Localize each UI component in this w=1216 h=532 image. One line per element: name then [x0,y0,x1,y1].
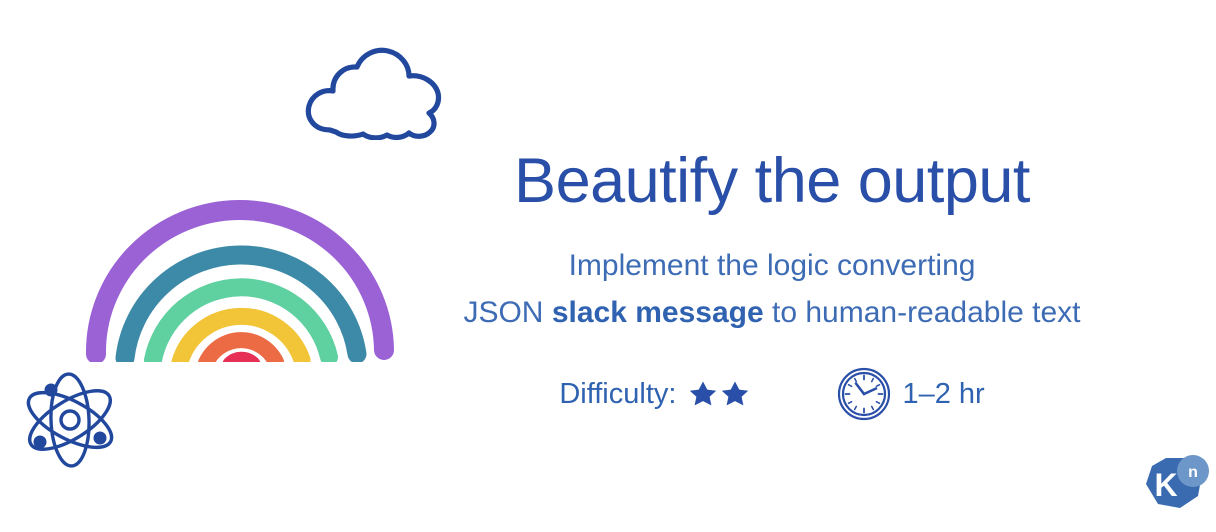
rainbow-arc-purple [96,210,384,354]
rainbow-arc-yellow [180,316,302,362]
rainbow-arc-teal [125,255,357,358]
atom-icon [18,368,122,472]
subtitle-line2-suffix: to human-readable text [764,296,1081,329]
star-icon [720,379,750,409]
logo-letter-n: n [1188,464,1198,481]
subtitle-line-2: JSON slack message to human-readable tex… [392,290,1152,337]
text-content: Beautify the output Implement the logic … [392,150,1152,422]
duration-meta: 1–2 hr [836,366,984,422]
page-title: Beautify the output [392,150,1152,213]
rainbow-arc-crimson [230,359,253,362]
logo-letter-k: K [1154,467,1177,503]
cloud-icon [302,42,448,140]
difficulty-meta: Difficulty: [559,378,750,411]
meta-row: Difficulty: [392,366,1152,422]
difficulty-label: Difficulty: [559,378,676,411]
difficulty-stars [688,379,750,409]
rainbow-icon [80,186,400,362]
duration-text: 1–2 hr [902,378,984,411]
rainbow-arc-mint [153,287,329,360]
page-subtitle: Implement the logic converting JSON slac… [392,243,1152,336]
subtitle-line2-prefix: JSON [463,296,551,329]
slide-canvas: Beautify the output Implement the logic … [0,0,1216,532]
clock-icon [836,366,892,422]
knowledge-logo[interactable]: K n [1140,452,1212,522]
subtitle-line2-strong: slack message [552,296,764,329]
rainbow-arc-orange [206,340,276,362]
subtitle-line-1: Implement the logic converting [392,243,1152,290]
star-icon [688,379,718,409]
